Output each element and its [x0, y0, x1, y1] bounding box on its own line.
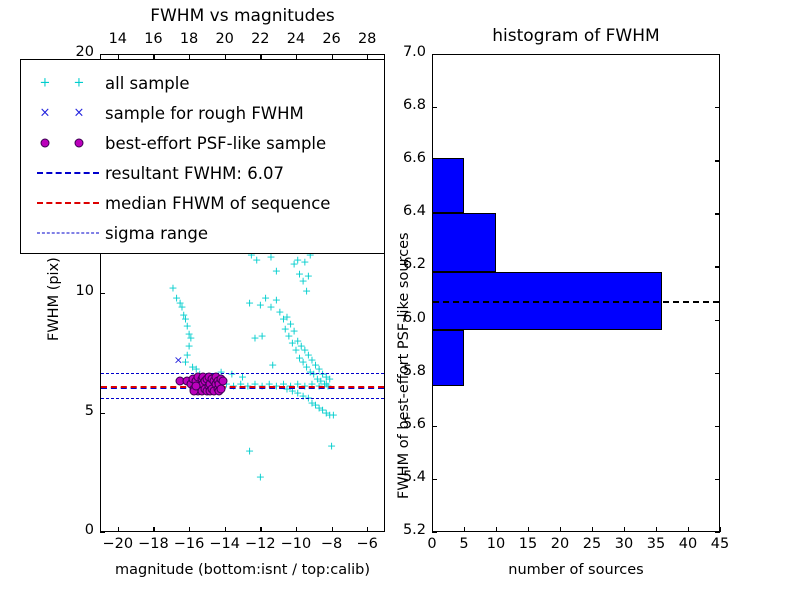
histogram-bar — [433, 158, 464, 214]
legend-marker-dashdot-line-icon — [31, 221, 105, 245]
scatter-point-all: + — [295, 352, 304, 363]
right-ytick: 5.2 — [388, 522, 426, 538]
right-xtick: 20 — [542, 536, 578, 552]
left-ytick: 10 — [60, 283, 94, 299]
right-ytick: 6.8 — [388, 97, 426, 113]
scatter-point-all: + — [261, 292, 270, 303]
scatter-point-all: + — [181, 357, 190, 368]
scatter-point-psf — [192, 377, 201, 386]
scatter-point-all: + — [183, 321, 192, 332]
histogram-plot-area — [433, 55, 719, 531]
scatter-point-psf — [201, 377, 210, 386]
scatter-point-psf — [217, 375, 226, 384]
dashdot-line-icon — [37, 233, 99, 234]
scatter-line-sigma-range-lower — [101, 398, 384, 399]
scatter-point-all: + — [279, 314, 288, 325]
left-xtick-bottom: −10 — [278, 536, 314, 552]
right-xtick: 45 — [702, 536, 738, 552]
scatter-point-all: + — [297, 340, 306, 351]
scatter-point-all: + — [300, 256, 309, 267]
scatter-point-all: + — [183, 350, 192, 361]
scatter-point-all: + — [311, 359, 320, 370]
scatter-point-all: + — [256, 299, 265, 310]
right-xtick: 35 — [638, 536, 674, 552]
legend-marker-cross-icon: ×× — [31, 101, 105, 125]
left-xtick-bottom: −20 — [100, 536, 136, 552]
right-xtick: 0 — [414, 536, 450, 552]
cross-icon: × — [40, 107, 51, 120]
scatter-point-all: + — [272, 295, 281, 306]
scatter-line-sigma-range-upper — [101, 373, 384, 374]
legend-label: sigma range — [105, 224, 208, 243]
scatter-point-all: + — [306, 366, 315, 377]
scatter-point-all: + — [298, 276, 307, 287]
left-ytick: 20 — [60, 44, 94, 60]
scatter-point-all: + — [313, 374, 322, 385]
scatter-point-all: + — [266, 302, 275, 313]
histogram-bar — [433, 330, 464, 386]
plus-icon: + — [40, 77, 51, 90]
legend-label: resultant FWHM: 6.07 — [105, 164, 284, 183]
scatter-point-all: + — [275, 307, 284, 318]
right-xtick: 40 — [670, 536, 706, 552]
figure-canvas: FWHM vs magnitudes−20−18−16−14−12−10−8−6… — [0, 0, 800, 600]
right-ytick: 7.0 — [388, 44, 426, 60]
left-xtick-top: 18 — [171, 31, 207, 47]
scatter-point-all: + — [325, 374, 334, 385]
scatter-point-all: + — [298, 357, 307, 368]
dashed-line-icon — [37, 172, 99, 174]
scatter-point-all: + — [314, 402, 323, 413]
legend-label: median FHWM of sequence — [105, 194, 330, 213]
scatter-point-all: + — [288, 338, 297, 349]
scatter-point-all: + — [268, 359, 277, 370]
scatter-point-all: + — [252, 254, 261, 265]
left-plot-title: FWHM vs magnitudes — [100, 6, 385, 26]
scatter-point-all: + — [217, 366, 226, 377]
scatter-point-all: + — [302, 285, 311, 296]
right-xtick: 10 — [478, 536, 514, 552]
scatter-point-all: + — [281, 323, 290, 334]
scatter-point-all: + — [290, 326, 299, 337]
scatter-point-all: + — [176, 297, 185, 308]
scatter-point-all: + — [329, 409, 338, 420]
scatter-point-all: + — [184, 328, 193, 339]
scatter-point-all: + — [318, 405, 327, 416]
scatter-point-rough: × — [174, 354, 183, 365]
scatter-point-all: + — [245, 297, 254, 308]
scatter-point-all: + — [257, 331, 266, 342]
right-ytick-mark — [432, 532, 437, 533]
scatter-point-all: + — [298, 390, 307, 401]
left-xlabel: magnitude (bottom:isnt / top:calib) — [100, 562, 385, 578]
right-ytick-mark-right — [715, 532, 720, 533]
scatter-point-all: + — [245, 445, 254, 456]
right-ytick: 6.4 — [388, 203, 426, 219]
scatter-point-psf — [202, 375, 211, 384]
scatter-point-all: + — [284, 331, 293, 342]
scatter-point-psf — [197, 375, 206, 384]
scatter-point-all: + — [300, 345, 309, 356]
legend-item-5[interactable]: sigma range — [31, 219, 208, 247]
left-ylabel: FWHM (pix) — [46, 257, 62, 341]
scatter-point-all: + — [318, 369, 327, 380]
scatter-point-all: + — [177, 302, 186, 313]
cross-icon: × — [74, 107, 85, 120]
right-xtick-mark — [720, 527, 721, 532]
plus-icon: + — [74, 77, 85, 90]
legend-marker-dashed-line-icon — [31, 161, 105, 185]
scatter-point-all: + — [322, 407, 331, 418]
right-xlabel: number of sources — [432, 562, 720, 578]
scatter-point-psf — [213, 377, 222, 386]
legend-box: ++all sample××sample for rough FWHMbest-… — [20, 59, 385, 254]
legend-marker-plus-icon: ++ — [31, 71, 105, 95]
scatter-point-all: + — [304, 350, 313, 361]
scatter-point-all: + — [168, 283, 177, 294]
left-xtick-bottom: −18 — [135, 536, 171, 552]
scatter-point-all: + — [195, 369, 204, 380]
left-ytick: 5 — [60, 403, 94, 419]
scatter-point-all: + — [327, 440, 336, 451]
legend-label: sample for rough FWHM — [105, 104, 304, 123]
legend-item-4[interactable]: median FHWM of sequence — [31, 189, 330, 217]
dashed-line-icon — [37, 202, 99, 204]
left-xtick-top: 26 — [314, 31, 350, 47]
scatter-point-all: + — [295, 268, 304, 279]
legend-item-0[interactable]: ++all sample — [31, 69, 190, 97]
scatter-point-all: + — [291, 345, 300, 356]
scatter-point-all: + — [286, 319, 295, 330]
scatter-line-median-fhwm-of-sequence — [101, 386, 384, 388]
scatter-point-all: + — [188, 362, 197, 373]
left-xtick-top: 22 — [242, 31, 278, 47]
scatter-point-all: + — [184, 340, 193, 351]
scatter-point-all: + — [302, 362, 311, 373]
scatter-point-psf — [210, 377, 219, 386]
scatter-point-psf — [176, 377, 185, 386]
right-ylabel: FWHM of best-effort PSF-like sources — [396, 232, 412, 499]
scatter-point-all: + — [293, 335, 302, 346]
scatter-point-psf — [188, 375, 197, 384]
histogram-bar — [433, 213, 496, 271]
histogram-median-line — [433, 301, 719, 303]
scatter-point-all: + — [181, 314, 190, 325]
right-xtick: 15 — [510, 536, 546, 552]
right-xtick: 5 — [446, 536, 482, 552]
left-xtick-bottom: −8 — [314, 536, 350, 552]
legend-marker-circle-icon — [31, 131, 105, 155]
left-xtick-top: 28 — [349, 31, 385, 47]
left-xtick-top: 16 — [135, 31, 171, 47]
left-xtick-bottom: −14 — [207, 536, 243, 552]
scatter-point-all: + — [325, 409, 334, 420]
left-xtick-top: 20 — [207, 31, 243, 47]
scatter-point-psf — [218, 377, 227, 386]
legend-label: all sample — [105, 74, 190, 93]
scatter-point-psf — [183, 377, 192, 386]
left-xtick-bottom: −12 — [242, 536, 278, 552]
legend-label: best-effort PSF-like sample — [105, 134, 326, 153]
legend-item-1[interactable]: ××sample for rough FWHM — [31, 99, 304, 127]
left-xtick-bottom: −6 — [349, 536, 385, 552]
scatter-point-all: + — [309, 369, 318, 380]
scatter-point-all: + — [250, 333, 259, 344]
scatter-point-all: + — [272, 266, 281, 277]
scatter-point-all: + — [172, 292, 181, 303]
scatter-point-all: + — [256, 472, 265, 483]
right-ytick: 6.6 — [388, 150, 426, 166]
scatter-point-all: + — [311, 400, 320, 411]
left-ytick: 0 — [60, 522, 94, 538]
right-xtick: 30 — [606, 536, 642, 552]
circle-icon — [75, 139, 84, 148]
right-plot-title: histogram of FWHM — [432, 26, 720, 46]
legend-item-2[interactable]: best-effort PSF-like sample — [31, 129, 326, 157]
left-xtick-top: 24 — [278, 31, 314, 47]
left-xtick-bottom: −16 — [171, 536, 207, 552]
scatter-point-psf — [208, 375, 217, 384]
scatter-point-all: + — [179, 309, 188, 320]
scatter-point-all: + — [304, 271, 313, 282]
scatter-point-all: + — [227, 369, 236, 380]
scatter-point-all: + — [186, 333, 195, 344]
scatter-point-all: + — [307, 354, 316, 365]
left-xtick-top: 14 — [100, 31, 136, 47]
legend-marker-dashed-line-icon — [31, 191, 105, 215]
left-ytick-mark — [100, 532, 105, 533]
circle-icon — [41, 139, 50, 148]
legend-item-3[interactable]: resultant FWHM: 6.07 — [31, 159, 284, 187]
scatter-point-all: + — [293, 254, 302, 265]
scatter-point-all: + — [290, 259, 299, 270]
right-xtick: 25 — [574, 536, 610, 552]
scatter-point-all: + — [282, 311, 291, 322]
